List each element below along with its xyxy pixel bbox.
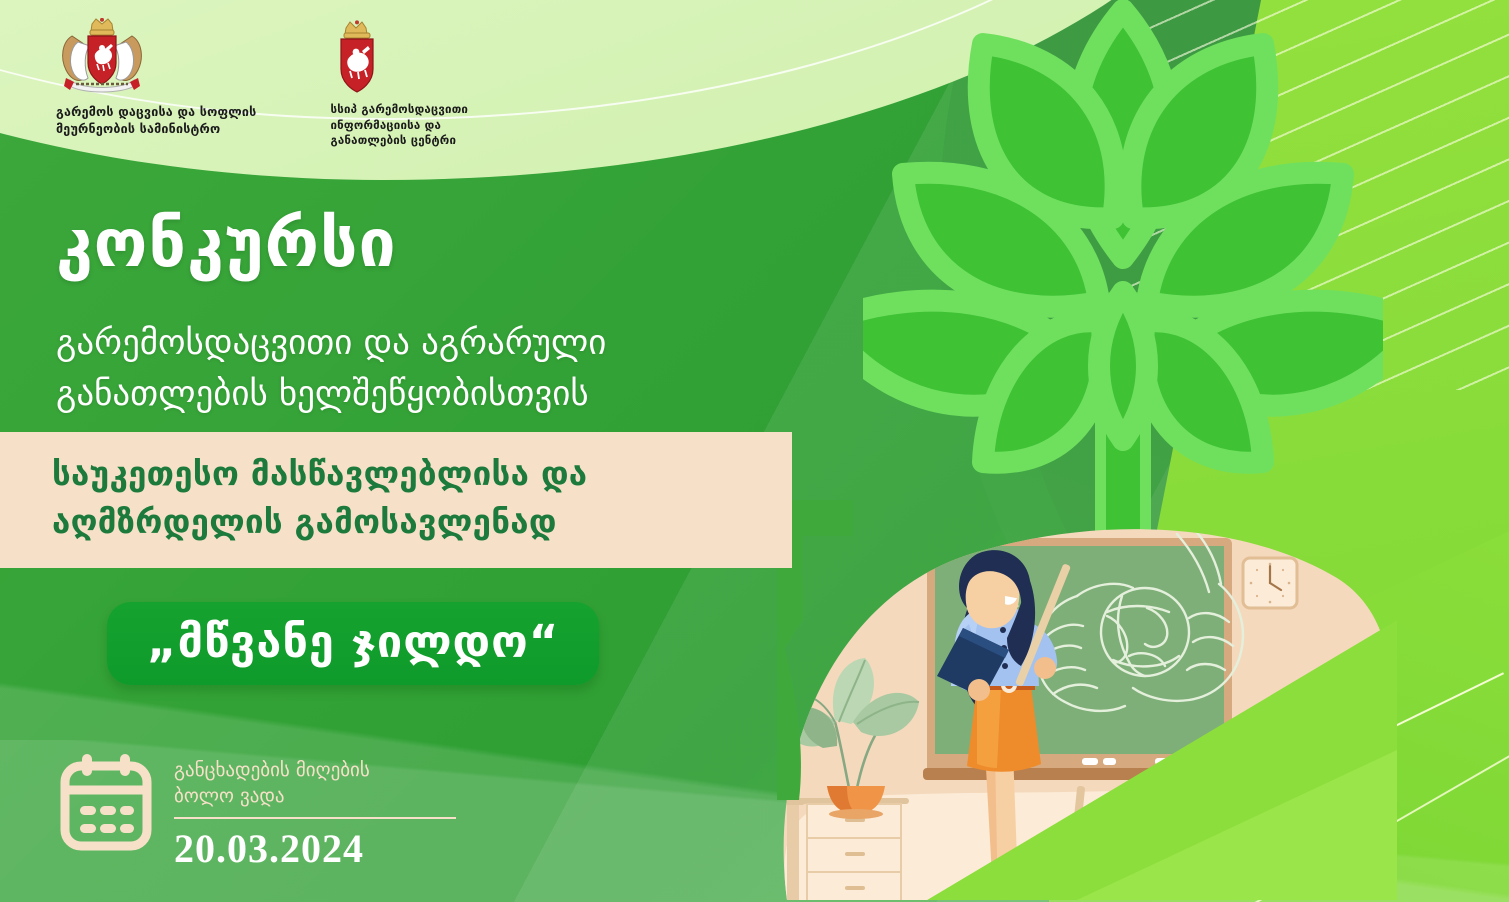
crown <box>344 20 370 38</box>
deadline-texts: განცხადების მიღების ბოლო ვადა 20.03.2024 <box>174 752 456 872</box>
award-purpose-text: საუკეთესო მასწავლებლისა და აღმზრდელის გა… <box>52 450 766 546</box>
award-name-badge: „მწვანე ჯილდო“ <box>107 602 599 685</box>
page-subtitle: გარემოსდაცვითი და აგრარული განათლების ხე… <box>56 318 606 420</box>
wall-clock <box>1243 558 1297 608</box>
award-purpose-banner: საუკეთესო მასწავლებლისა და აღმზრდელის გა… <box>0 432 792 568</box>
header-logos: გარემოს დაცვისა და სოფლის მეურნეობის სამ… <box>56 18 468 149</box>
deadline-divider <box>174 817 456 819</box>
logo-ministry-label: გარემოს დაცვისა და სოფლის მეურნეობის სამ… <box>56 104 256 138</box>
crown <box>90 18 114 35</box>
chalk-piece <box>1082 758 1098 765</box>
logo-center: სსიპ გარემოსდაცვითი ინფორმაციისა და განა… <box>330 20 468 149</box>
calendar-icon <box>58 752 154 856</box>
tree-leaves <box>863 10 1383 463</box>
deadline-block: განცხადების მიღების ბოლო ვადა 20.03.2024 <box>58 752 456 872</box>
deadline-label: განცხადების მიღების ბოლო ვადა <box>174 758 456 809</box>
georgia-coat-of-arms-full-icon <box>56 18 148 96</box>
logo-center-label: სსიპ გარემოსდაცვითი ინფორმაციისა და განა… <box>330 102 468 149</box>
award-name-text: „მწვანე ჯილდო“ <box>147 615 559 668</box>
logo-ministry: გარემოს დაცვისა და სოფლის მეურნეობის სამ… <box>56 18 256 138</box>
chalk-piece <box>1103 758 1116 765</box>
deadline-date: 20.03.2024 <box>174 825 456 872</box>
classroom-illustration <box>777 500 1397 902</box>
page-title: კონკურსი <box>56 205 397 282</box>
poster-canvas: გარემოს დაცვისა და სოფლის მეურნეობის სამ… <box>0 0 1509 902</box>
georgia-coat-of-arms-shield-icon <box>330 20 386 94</box>
